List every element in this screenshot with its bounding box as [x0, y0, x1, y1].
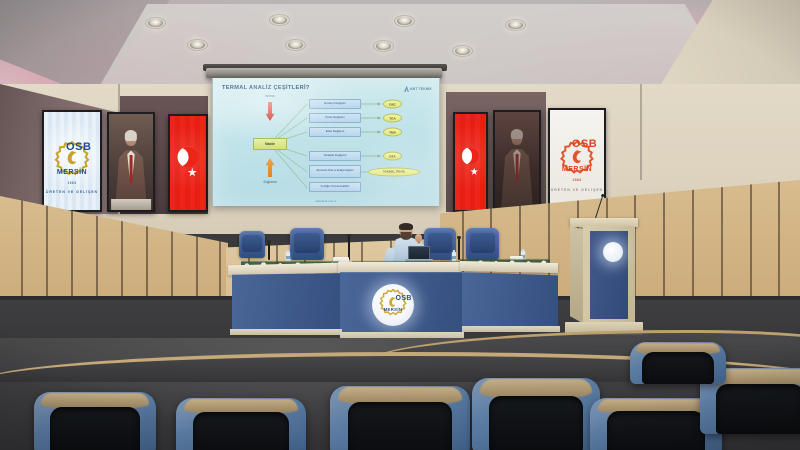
downlight: [376, 42, 391, 50]
table-logo-subtitle: MERSİN: [384, 308, 403, 313]
osb-banner-subtitle: MERSİN: [57, 169, 87, 176]
banner-osb-logo-left: OSB MERSİN 1963 ÜRETEN VE GELİŞEN: [42, 110, 102, 212]
banner-turkish-flag-left: [168, 114, 208, 212]
osb-banner-title: OSB: [66, 141, 91, 153]
gear-icon: [376, 287, 410, 321]
diagram-technique-ellipse: DSC: [383, 100, 402, 109]
banner-ataturk-portrait-left: [107, 112, 155, 212]
downlight: [455, 47, 470, 55]
diagram-technique-ellipse: TMA: [383, 128, 402, 137]
table-logo-title: OSB: [396, 295, 412, 303]
diagram-property-box: Entalpi Değişimi: [309, 99, 361, 109]
slide-title: TERMAL ANALİZ ÇEŞİTLERİ?: [222, 85, 310, 91]
diagram-property-box: Eşzamanlı Kütle ve Entalpi Değişimi: [309, 165, 361, 178]
seat-cushion: [50, 407, 140, 450]
downlight: [397, 17, 412, 25]
diagram-technique-ellipse: TGA/DSC, DTA/TG: [368, 168, 420, 177]
downlight: [508, 21, 523, 29]
diagram-label-heating: Isıtma: [266, 94, 275, 98]
panel-chair[interactable]: [290, 228, 324, 260]
portrait-hair: [511, 129, 523, 140]
slide-footer: antteknik.com.tr: [315, 200, 337, 203]
banner-osb-logo-right: OSB MERSİN 1963 ÜRETEN VE GELİŞEN: [548, 108, 606, 212]
slide-logo-text: ANT TEKNİK: [410, 87, 432, 91]
osb-banner-year: 1963: [67, 181, 76, 185]
osb-banner-title: OSB: [572, 138, 597, 150]
star-icon: [470, 168, 478, 176]
star-icon: [188, 168, 197, 177]
wall-seam: [640, 84, 642, 180]
seat-cushion: [348, 402, 452, 450]
table-front-left: [232, 273, 340, 331]
audience-seat[interactable]: [176, 398, 306, 450]
diagram-node-material: Madde: [253, 138, 287, 150]
osb-banner-tagline: ÜRETEN VE GELİŞEN: [46, 190, 98, 194]
seat-cushion: [607, 411, 705, 450]
seat-cushion: [489, 396, 584, 450]
auditorium-photo: OSB MERSİN 1963 ÜRETEN VE GELİŞEN: [0, 0, 800, 450]
banner-turkish-flag-right: [453, 112, 488, 212]
diagram-property-box: Kütle Değişimi: [309, 113, 361, 123]
diagram-technique-ellipse: TGA: [383, 114, 402, 123]
crescent-icon: [462, 147, 480, 165]
diagram-property-box: Ve Diğer Termal Analizler: [309, 182, 361, 192]
portrait-podium: [111, 199, 152, 212]
slide-diagram: Isıtma Madde Soğutma Entalpi Değişimi Kü…: [213, 92, 439, 204]
diagram-technique-ellipse: DTA: [383, 152, 402, 161]
downlight: [148, 19, 163, 27]
table-base-right: [462, 326, 560, 332]
seat-cushion: [642, 352, 713, 384]
audience-seat[interactable]: [34, 392, 156, 450]
diagram-label-cooling: Soğutma: [263, 180, 276, 184]
portrait-hair: [125, 130, 137, 140]
panel-chair[interactable]: [239, 231, 265, 258]
diagram-property-box: Sıcaklık Değişimi: [309, 151, 361, 161]
downlight: [272, 16, 287, 24]
speaker-hair: [399, 223, 413, 230]
projection-screen: TERMAL ANALİZ ÇEŞİTLERİ? ANT TEKNİK: [212, 78, 440, 206]
portrait-figure: [112, 129, 150, 210]
table-front-logo: OSB MERSİN: [372, 284, 414, 326]
seat-cushion: [193, 412, 289, 450]
audience-seat[interactable]: [472, 378, 600, 450]
diagram-property-box: Ebat Değişimi: [309, 127, 361, 137]
portrait-tie: [129, 155, 132, 182]
osb-banner-subtitle: MERSİN: [562, 166, 592, 173]
seat-cushion: [716, 384, 800, 434]
crescent-icon: [178, 147, 199, 168]
osb-banner-tagline: ÜRETEN VE GELİŞEN: [551, 188, 603, 192]
speaker-right-hand: [415, 234, 422, 242]
downlight: [190, 41, 205, 49]
portrait-tie: [515, 154, 518, 182]
podium-left-side: [570, 226, 584, 324]
speaker-beard: [401, 232, 412, 240]
portrait-figure: [498, 128, 536, 210]
podium-logo: [603, 242, 623, 262]
screen-roller-bar: [206, 68, 442, 78]
table-front-right: [462, 272, 558, 328]
table-base-left: [230, 329, 342, 335]
audience-seat[interactable]: [330, 386, 470, 450]
downlight: [288, 41, 303, 49]
table-top-right: [460, 261, 558, 273]
banner-ataturk-portrait-right: [493, 110, 541, 212]
osb-banner-year: 1963: [572, 178, 581, 182]
audience-seat[interactable]: [630, 342, 726, 384]
